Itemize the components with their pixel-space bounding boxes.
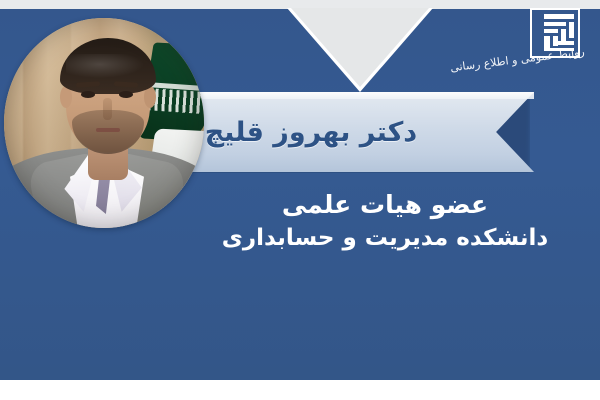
bottom-white-band [0, 380, 600, 400]
logo-glyph-3 [544, 22, 566, 26]
logo-glyph-1 [544, 14, 574, 19]
portrait-photo [4, 18, 204, 228]
logo-glyph-2 [569, 22, 574, 38]
logo-glyph-7 [554, 41, 574, 45]
faculty-announcement-card: دکتر بهروز قلیچ لی عضو هیات علمی دانشکده… [0, 0, 600, 400]
role-line-1: عضو هیات علمی [200, 188, 570, 221]
logo-glyph-5 [544, 29, 558, 33]
logo-calligraphy: روابط عمومی و اطلاع رسانی [500, 45, 587, 87]
mouth [96, 128, 120, 132]
university-logo: روابط عمومی و اطلاع رسانی [502, 6, 586, 84]
logo-glyph-4 [561, 29, 566, 41]
role-line-2: دانشکده مدیریت و حسابداری [200, 223, 570, 253]
logo-glyph-8 [544, 36, 550, 48]
portrait-vignette [4, 18, 204, 228]
person-role: عضو هیات علمی دانشکده مدیریت و حسابداری [200, 188, 570, 253]
